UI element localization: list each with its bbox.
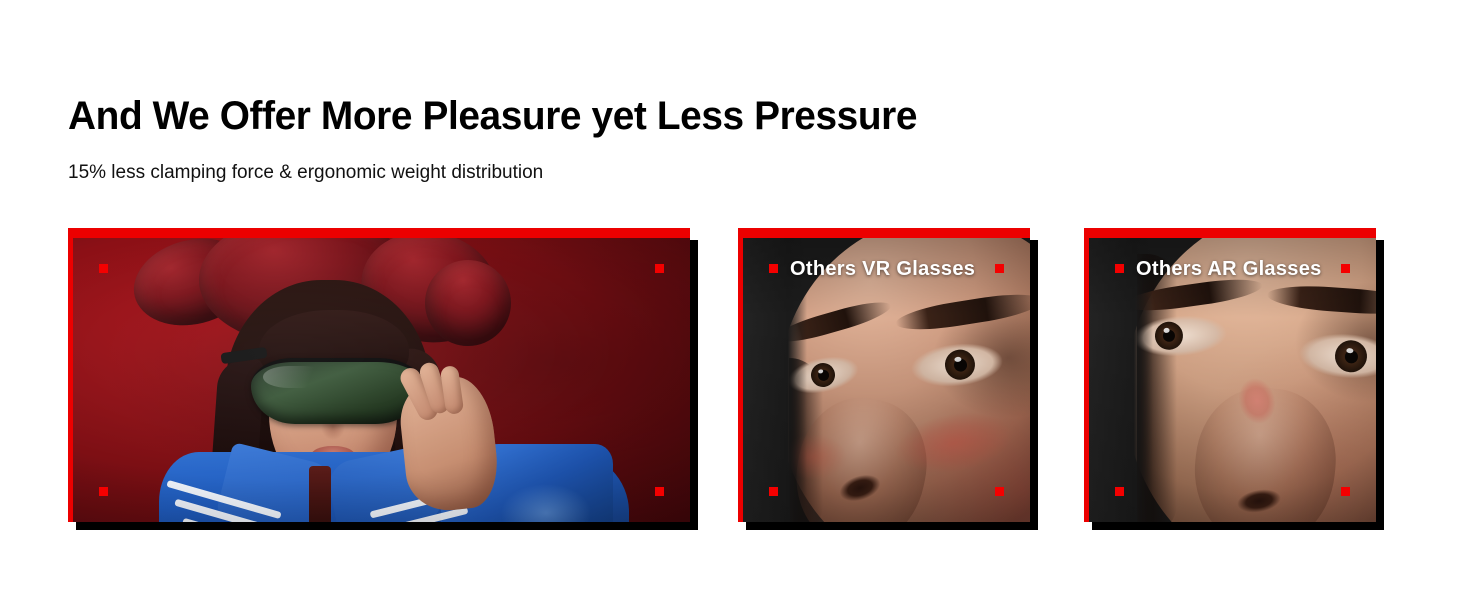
ar-card-label: Others AR Glasses	[1136, 258, 1322, 281]
vr-card-label: Others VR Glasses	[790, 258, 975, 281]
vr-comparison-card[interactable]: Others VR Glasses	[738, 228, 1030, 522]
corner-marker-bottom-left	[1115, 487, 1124, 496]
comparison-gallery: Others VR Glasses	[0, 0, 1464, 600]
corner-marker-top-right	[995, 264, 1004, 273]
ar-media: Others AR Glasses	[1089, 238, 1376, 522]
image-vignette	[73, 238, 690, 522]
ar-comparison-card[interactable]: Others AR Glasses	[1084, 228, 1376, 522]
corner-marker-top-right	[1341, 264, 1350, 273]
corner-marker-bottom-right	[995, 487, 1004, 496]
corner-marker-bottom-left	[99, 487, 108, 496]
hero-card[interactable]	[68, 228, 690, 522]
corner-marker-top-right	[655, 264, 664, 273]
corner-marker-bottom-right	[655, 487, 664, 496]
corner-marker-top-left	[769, 264, 778, 273]
corner-marker-bottom-right	[1341, 487, 1350, 496]
hero-media	[73, 238, 690, 522]
comparison-section: And We Offer More Pleasure yet Less Pres…	[0, 0, 1464, 600]
vr-media: Others VR Glasses	[743, 238, 1030, 522]
hero-figure	[73, 238, 690, 522]
corner-marker-bottom-left	[769, 487, 778, 496]
corner-marker-top-left	[99, 264, 108, 273]
corner-marker-top-left	[1115, 264, 1124, 273]
